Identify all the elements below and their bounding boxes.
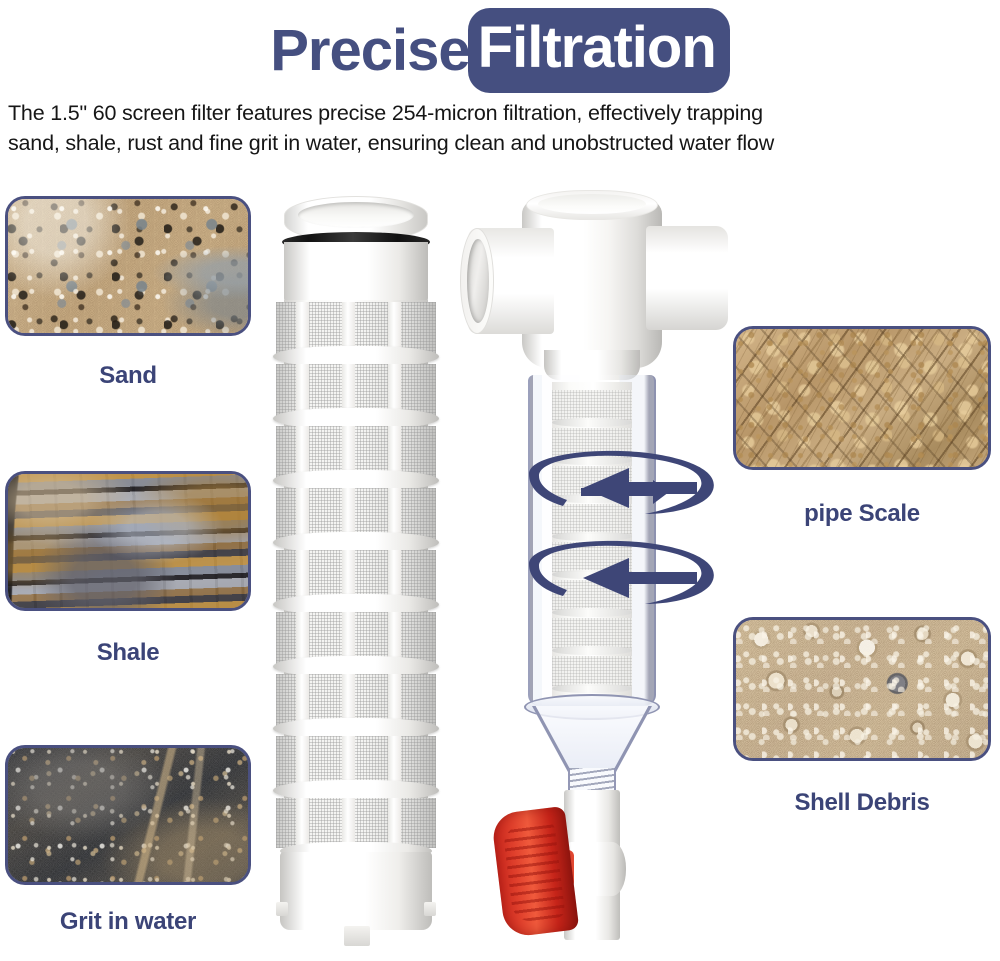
housing-port-left-bore	[467, 239, 489, 323]
rotation-arrow-upper	[505, 444, 735, 540]
subtitle: The 1.5" 60 screen filter features preci…	[8, 98, 992, 158]
card-image-frame	[5, 196, 251, 336]
subtitle-line-2: sand, shale, rust and fine grit in water…	[8, 128, 992, 158]
card-image-frame	[5, 471, 251, 611]
shell-debris-texture-image	[736, 620, 988, 758]
rotation-arrow-lower	[505, 534, 735, 630]
shale-texture-image	[8, 474, 248, 608]
contaminant-card-pipe-scale	[733, 326, 991, 470]
card-label-sand: Sand	[5, 362, 251, 390]
cartridge-base	[280, 852, 432, 930]
header: PreciseFiltration The 1.5" 60 screen fil…	[0, 0, 1000, 180]
sand-texture-image	[8, 199, 248, 333]
contaminant-card-sand	[5, 196, 251, 336]
cartridge-cap-recess	[298, 202, 414, 228]
card-label-shale: Shale	[5, 639, 251, 667]
subtitle-line-1: The 1.5" 60 screen filter features preci…	[8, 98, 992, 128]
card-image-frame	[733, 617, 991, 761]
cartridge-tab-left	[276, 902, 288, 916]
card-label-shell-debris: Shell Debris	[733, 789, 991, 817]
grit-texture-image	[8, 748, 248, 882]
housing-port-right	[646, 226, 728, 330]
flush-valve-red-handle[interactable]	[491, 806, 580, 938]
cartridge-mesh-band	[276, 798, 436, 848]
page-title: PreciseFiltration	[0, 8, 1000, 93]
title-badge-filtration: Filtration	[468, 8, 730, 93]
pipe-scale-texture-image	[736, 329, 988, 467]
cartridge-collar	[284, 242, 428, 304]
title-word-precise: Precise	[270, 17, 469, 84]
card-label-grit: Grit in water	[5, 908, 251, 936]
cartridge-tab-center	[344, 926, 370, 946]
card-label-pipe-scale: pipe Scale	[733, 500, 991, 528]
housing-head-cap-recess	[538, 194, 646, 214]
screen-filter-cartridge	[276, 196, 436, 952]
card-image-frame	[733, 326, 991, 470]
cartridge-tab-right	[424, 902, 436, 916]
contaminant-card-shell-debris	[733, 617, 991, 761]
contaminant-card-grit	[5, 745, 251, 885]
contaminant-card-shale	[5, 471, 251, 611]
card-image-frame	[5, 745, 251, 885]
